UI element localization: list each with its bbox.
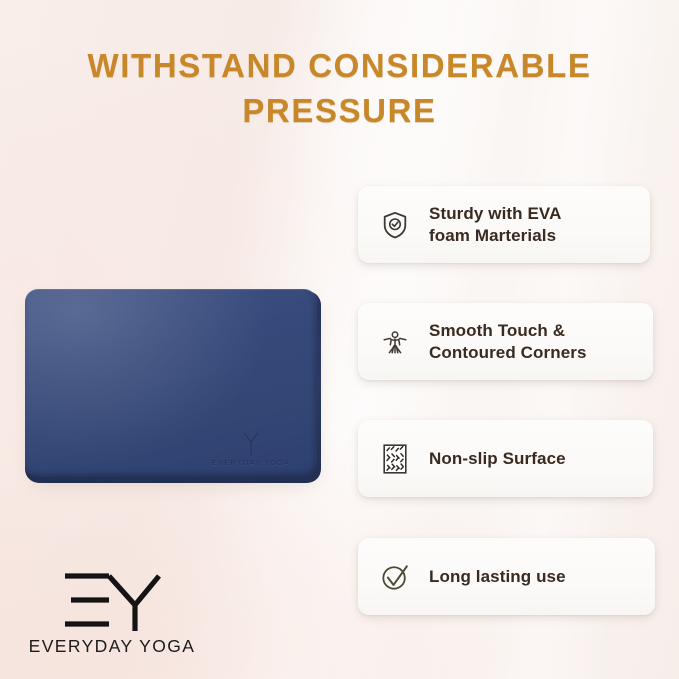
feature-label: Non-slip Surface [429,448,566,470]
feature-label-line1: Sturdy with EVA [429,204,561,223]
texture-swatch-icon [378,442,412,476]
vitruvian-figure-icon [378,325,412,359]
ey-monogram-icon [61,571,163,633]
embossed-brand-text: EVERYDAY YOGA [212,458,290,467]
feature-label-line2: Contoured Corners [429,343,587,362]
product-embossed-logo: EVERYDAY YOGA [197,411,305,467]
embossed-monogram-icon [241,431,261,457]
feature-card-non-slip-surface[interactable]: Non-slip Surface [358,420,653,497]
feature-label-line2: foam Marterials [429,226,556,245]
feature-label: Sturdy with EVA foam Marterials [429,203,561,247]
feature-label: Smooth Touch & Contoured Corners [429,320,587,364]
feature-card-smooth-touch[interactable]: Smooth Touch & Contoured Corners [358,303,653,380]
feature-label-line1: Smooth Touch & [429,321,565,340]
shield-check-icon [378,208,412,242]
check-circle-icon [378,560,412,594]
feature-card-sturdy-eva-foam[interactable]: Sturdy with EVA foam Marterials [358,186,650,263]
feature-card-long-lasting-use[interactable]: Long lasting use [358,538,655,615]
page-title: WITHSTAND CONSIDERABLE PRESSURE [0,44,679,133]
brand-name: EVERYDAY YOGA [22,636,202,657]
brand-logo: EVERYDAY YOGA [22,571,202,657]
feature-label: Long lasting use [429,566,566,588]
product-image-yoga-block: EVERYDAY YOGA [25,289,321,483]
